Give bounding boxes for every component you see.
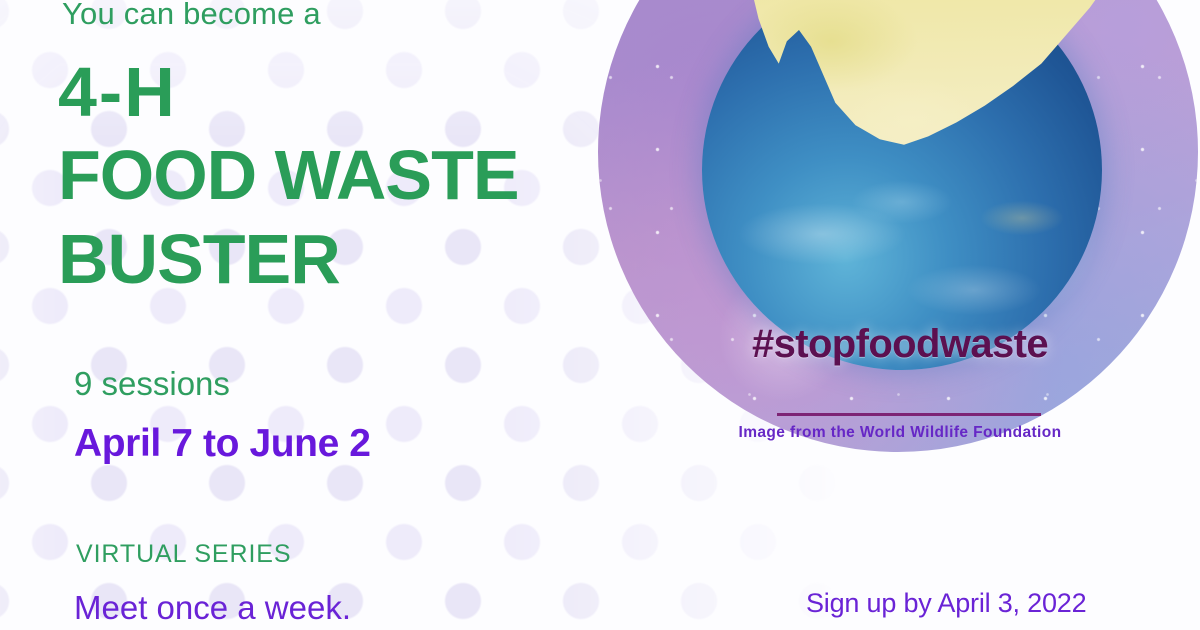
- headline-line-2: FOOD WASTE: [58, 140, 519, 210]
- signup-deadline: Sign up by April 3, 2022: [806, 588, 1086, 619]
- earth-apple-artwork: [598, 0, 1198, 452]
- meeting-frequency: Meet once a week.: [74, 589, 351, 627]
- eyebrow-text: You can become a: [62, 0, 321, 32]
- series-label: VIRTUAL SERIES: [76, 540, 291, 569]
- headline-line-3: BUSTER: [58, 224, 340, 294]
- headline-line-1: 4-H: [58, 57, 177, 127]
- session-count: 9 sessions: [74, 365, 230, 403]
- attribution-divider: [777, 413, 1041, 416]
- promo-poster: #stopfoodwaste Image from the World Wild…: [0, 0, 1200, 630]
- date-range: April 7 to June 2: [74, 422, 371, 466]
- hashtag-stopfoodwaste: #stopfoodwaste: [600, 322, 1200, 367]
- image-attribution: Image from the World Wildlife Foundation: [600, 424, 1200, 442]
